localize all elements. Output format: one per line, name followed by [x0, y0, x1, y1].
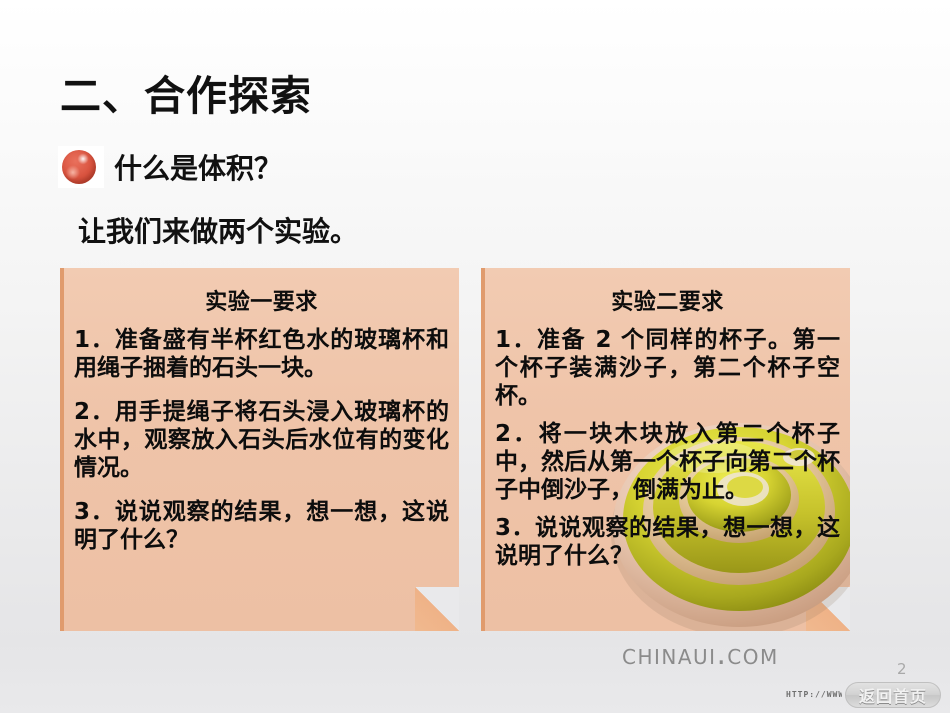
experiment-two-item-2: 2．将一块木块放入第二个杯子中，然后从第一个杯子向第二个杯子中倒沙子，倒满为止。 — [495, 420, 840, 504]
page-fold-corner-icon — [415, 587, 459, 631]
subtitle-text: 让我们来做两个实验。 — [78, 210, 358, 250]
experiment-two-box: 实验二要求 1．准备 2 个同样的杯子。第一个杯子装满沙子，第二个杯子空杯。 2… — [481, 268, 850, 631]
page-fold-corner-icon — [806, 587, 850, 631]
experiment-two-heading: 实验二要求 — [495, 284, 840, 316]
experiment-one-item-1: 1．准备盛有半杯红色水的玻璃杯和用绳子捆着的石头一块。 — [74, 326, 449, 382]
experiment-one-heading: 实验一要求 — [74, 284, 449, 316]
page-number: 2 — [897, 660, 907, 678]
bullet-heading-label: 什么是体积？ — [114, 147, 282, 187]
experiment-two-content: 实验二要求 1．准备 2 个同样的杯子。第一个杯子装满沙子，第二个杯子空杯。 2… — [485, 268, 850, 570]
site-watermark: chinaui.com — [622, 637, 779, 671]
experiment-two-item-3: 3．说说观察的结果，想一想，这说明了什么？ — [495, 514, 840, 570]
bullet-heading-row: 什么是体积？ — [58, 146, 282, 188]
experiment-two-item-1: 1．准备 2 个同样的杯子。第一个杯子装满沙子，第二个杯子空杯。 — [495, 326, 840, 410]
return-home-button[interactable]: 返回首页 — [845, 682, 941, 708]
site-url-watermark: HTTP://WWW.C — [786, 690, 842, 699]
experiment-one-item-2: 2．用手提绳子将石头浸入玻璃杯的水中，观察放入石头后水位有的变化情况。 — [74, 398, 449, 482]
slide-canvas: 二、合作探索 什么是体积？ 让我们来做两个实验。 实验一要求 1．准备盛有半杯红… — [0, 0, 950, 713]
bullet-ball-shape — [62, 150, 96, 184]
experiment-one-box: 实验一要求 1．准备盛有半杯红色水的玻璃杯和用绳子捆着的石头一块。 2．用手提绳… — [60, 268, 459, 631]
red-sphere-bullet-icon — [58, 146, 104, 188]
page-title: 二、合作探索 — [60, 62, 312, 122]
experiment-one-item-3: 3．说说观察的结果，想一想，这说明了什么？ — [74, 498, 449, 554]
experiment-one-content: 实验一要求 1．准备盛有半杯红色水的玻璃杯和用绳子捆着的石头一块。 2．用手提绳… — [64, 268, 459, 554]
